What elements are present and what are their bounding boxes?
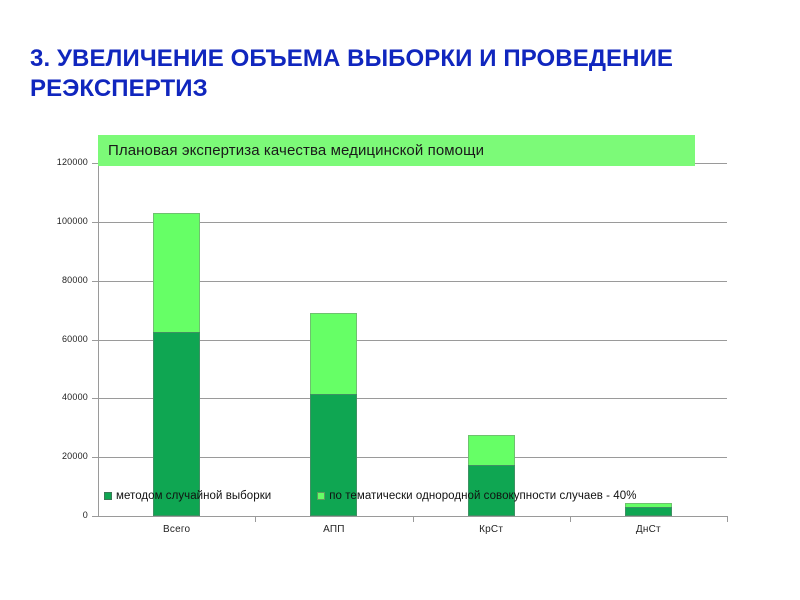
y-axis-label: 0: [18, 511, 88, 520]
bar-КрСт[interactable]: [468, 163, 515, 516]
legend-item-1[interactable]: по тематически однородной совокупности с…: [317, 490, 636, 502]
chart-title: Плановая экспертиза качества медицинской…: [108, 142, 484, 159]
y-axis-label: 120000: [18, 158, 88, 167]
y-axis-label: 40000: [18, 393, 88, 402]
y-axis-tick: [92, 457, 98, 458]
bar-segment-random-ДнСт[interactable]: [625, 507, 672, 516]
legend-label: по тематически однородной совокупности с…: [329, 490, 636, 502]
x-axis-label-КрСт: КрСт: [431, 524, 551, 535]
bar-segment-thematic-АПП[interactable]: [310, 313, 357, 394]
slide: 3. Увеличение объема выборки и проведени…: [0, 0, 800, 600]
x-axis-tick: [413, 516, 414, 522]
page-title: 3. Увеличение объема выборки и проведени…: [30, 44, 690, 104]
y-axis-label: 100000: [18, 217, 88, 226]
x-axis-tick: [255, 516, 256, 522]
chart-title-banner: Плановая экспертиза качества медицинской…: [98, 135, 695, 166]
bar-segment-thematic-КрСт[interactable]: [468, 435, 515, 464]
x-axis-tick: [570, 516, 571, 522]
y-axis-tick: [92, 398, 98, 399]
chart: 020000400006000080000100000120000 ВсегоА…: [0, 120, 800, 560]
legend-swatch-icon: [317, 492, 325, 500]
y-axis-line: [98, 163, 99, 517]
y-axis-tick: [92, 222, 98, 223]
bar-АПП[interactable]: [310, 163, 357, 516]
legend-swatch-icon: [104, 492, 112, 500]
y-axis-tick: [92, 340, 98, 341]
x-axis-label-Всего: Всего: [117, 524, 237, 535]
y-axis-label: 80000: [18, 276, 88, 285]
bar-ДнСт[interactable]: [625, 163, 672, 516]
y-axis-tick: [92, 516, 98, 517]
x-axis-label-ДнСт: ДнСт: [588, 524, 708, 535]
y-axis-tick: [92, 281, 98, 282]
bar-segment-thematic-Всего[interactable]: [153, 213, 200, 332]
bar-Всего[interactable]: [153, 163, 200, 516]
x-axis-tick: [727, 516, 728, 522]
y-axis-label: 20000: [18, 452, 88, 461]
legend-item-0[interactable]: методом случайной выборки: [104, 490, 271, 502]
legend-label: методом случайной выборки: [116, 490, 271, 502]
y-axis-label: 60000: [18, 335, 88, 344]
chart-legend: методом случайной выборкипо тематически …: [104, 488, 744, 504]
x-axis-label-АПП: АПП: [274, 524, 394, 535]
